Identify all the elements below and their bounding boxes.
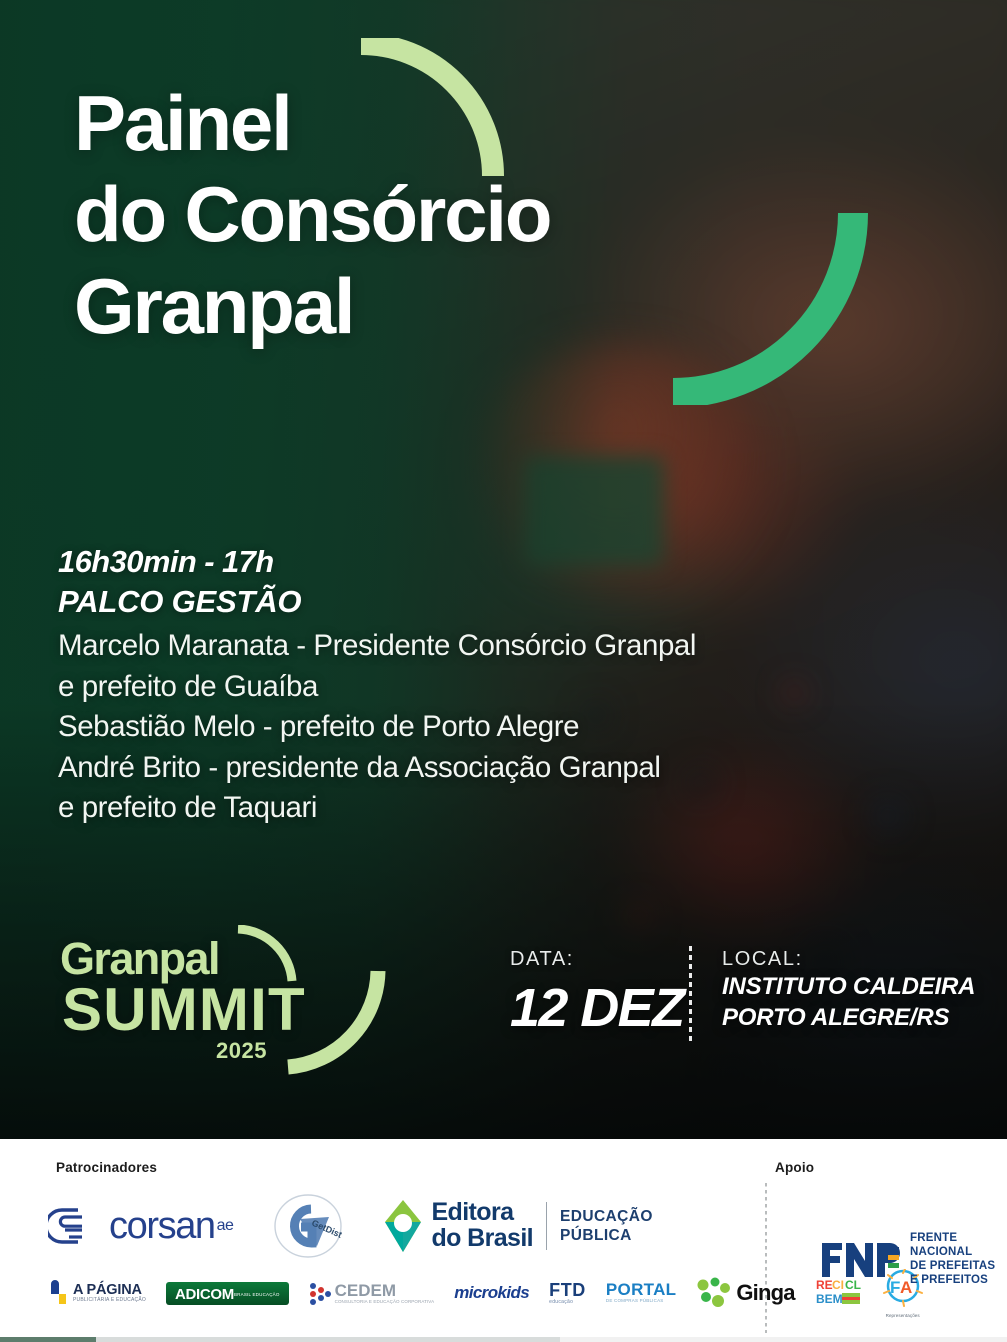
- date-local-divider: [689, 946, 692, 1044]
- small-sponsors-row: A PÁGINA PUBLICITÁRIA E EDUCAÇÃO ADICOM …: [48, 1267, 758, 1319]
- sponsor-logo-cedem[interactable]: CEDEM CONSULTORIA E EDUCAÇÃO CORPORATIVA: [309, 1281, 435, 1305]
- title-line-1: Painel: [74, 78, 834, 169]
- cedem-mark-icon: [309, 1281, 331, 1305]
- corsan-superscript: ae: [217, 1217, 234, 1235]
- ftd-wordmark: FTD: [549, 1281, 586, 1299]
- fnp-line-3: DE PREFEITAS: [910, 1259, 995, 1273]
- getdist-mark-icon: GetDist: [267, 1193, 349, 1259]
- sponsor-logo-editora-do-brasil[interactable]: Editora do Brasil EDUCAÇÃO PÚBLICA: [383, 1198, 652, 1254]
- adicom-wordmark: ADICOM: [175, 1287, 234, 1302]
- date-block: DATA: 12 DEZ: [510, 948, 683, 1039]
- recicle-line-2: BEM: [816, 1292, 843, 1306]
- summit-logo-summit: SUMMIT: [62, 975, 306, 1044]
- portal-tagline: DE COMPRAS PÚBLICAS: [606, 1298, 676, 1304]
- sponsor-logo-ginga[interactable]: Ginga: [696, 1277, 794, 1309]
- editora-sub-line-2: PÚBLICA: [560, 1226, 653, 1245]
- ftd-tagline: educação: [549, 1299, 586, 1306]
- date-value: 12 DEZ: [510, 977, 683, 1039]
- footer-divider: [765, 1183, 767, 1333]
- location-block: LOCAL: INSTITUTO CALDEIRA PORTO ALEGRE/R…: [722, 948, 975, 1033]
- support-heading: Apoio: [775, 1160, 814, 1175]
- cedem-wordmark: CEDEM: [335, 1282, 435, 1299]
- fnp-line-1: FRENTE: [910, 1231, 995, 1245]
- speaker-line: e prefeito de Guaíba: [58, 667, 848, 707]
- editora-name-line-1: Editora: [431, 1200, 533, 1226]
- scrollbar-thumb-accent[interactable]: [0, 1337, 96, 1342]
- editora-diamond-icon: [383, 1198, 423, 1254]
- granpal-summit-logo: Granpal SUMMIT 2025: [56, 925, 386, 1075]
- location-line-1: INSTITUTO CALDEIRA: [722, 971, 975, 1002]
- a-pagina-tagline: PUBLICITÁRIA E EDUCAÇÃO: [73, 1297, 146, 1304]
- sponsor-logo-getdist[interactable]: GetDist: [267, 1193, 349, 1259]
- a-pagina-wordmark: A PÁGINA: [73, 1283, 146, 1298]
- editora-separator: [546, 1202, 547, 1250]
- title-line-2: do Consórcio: [74, 169, 834, 260]
- sponsor-logo-a-pagina[interactable]: A PÁGINA PUBLICITÁRIA E EDUCAÇÃO: [48, 1280, 146, 1306]
- corsan-mark-icon: [48, 1206, 100, 1246]
- sponsor-logo-ftd[interactable]: FTD educação: [549, 1281, 586, 1306]
- sponsor-logo-portal[interactable]: PORTAL DE COMPRAS PÚBLICAS: [606, 1281, 676, 1304]
- summit-logo-year: 2025: [216, 1038, 267, 1064]
- cedem-tagline: CONSULTORIA E EDUCAÇÃO CORPORATIVA: [335, 1299, 435, 1305]
- support-logo-fnp[interactable]: FRENTE NACIONAL DE PREFEITAS E PREFEITOS: [818, 1231, 995, 1287]
- fnp-line-4: E PREFEITOS: [910, 1273, 995, 1287]
- ginga-wordmark: Ginga: [736, 1280, 794, 1306]
- sponsor-logo-microkids[interactable]: microkids: [454, 1283, 529, 1303]
- fnp-mark-icon: [818, 1237, 902, 1281]
- sponsor-footer: Patrocinadores Apoio corsan ae: [0, 1139, 1007, 1342]
- fnp-line-2: NACIONAL: [910, 1245, 995, 1259]
- sponsors-heading: Patrocinadores: [56, 1160, 157, 1175]
- corsan-wordmark: corsan: [109, 1205, 215, 1248]
- sponsor-logo-corsan[interactable]: corsan ae: [48, 1205, 233, 1248]
- hero-section: Painel do Consórcio Granpal 16h30min - 1…: [0, 0, 1007, 1139]
- speaker-line: e prefeito de Taquari: [58, 788, 848, 828]
- location-label: LOCAL:: [722, 948, 975, 971]
- speaker-line: André Brito - presidente da Associação G…: [58, 748, 848, 788]
- portal-wordmark: PORTAL: [606, 1281, 676, 1298]
- event-poster: Painel do Consórcio Granpal 16h30min - 1…: [0, 0, 1007, 1342]
- speaker-line: Marcelo Maranata - Presidente Consórcio …: [58, 626, 848, 666]
- title-line-3: Granpal: [74, 261, 834, 352]
- sponsor-logo-adicom[interactable]: ADICOM BRASIL EDUCAÇÃO: [166, 1282, 289, 1305]
- editora-name-line-2: do Brasil: [431, 1226, 533, 1252]
- a-pagina-mark-icon: [48, 1280, 68, 1306]
- scrollbar-track[interactable]: [0, 1337, 1007, 1342]
- main-sponsors-row: corsan ae GetDist Ed: [48, 1187, 748, 1265]
- ginga-dots-icon: [696, 1277, 732, 1309]
- editora-sub-line-1: EDUCAÇÃO: [560, 1207, 653, 1226]
- session-time: 16h30min - 17h: [58, 542, 848, 582]
- date-label: DATA:: [510, 948, 683, 971]
- page-title: Painel do Consórcio Granpal: [74, 78, 834, 352]
- schedule-block: 16h30min - 17h PALCO GESTÃO Marcelo Mara…: [58, 542, 848, 828]
- speaker-line: Sebastião Melo - prefeito de Porto Alegr…: [58, 707, 848, 747]
- fa-tagline: Representações: [881, 1313, 925, 1318]
- adicom-tagline: BRASIL EDUCAÇÃO: [234, 1293, 280, 1298]
- session-stage: PALCO GESTÃO: [58, 582, 848, 622]
- location-line-2: PORTO ALEGRE/RS: [722, 1002, 975, 1033]
